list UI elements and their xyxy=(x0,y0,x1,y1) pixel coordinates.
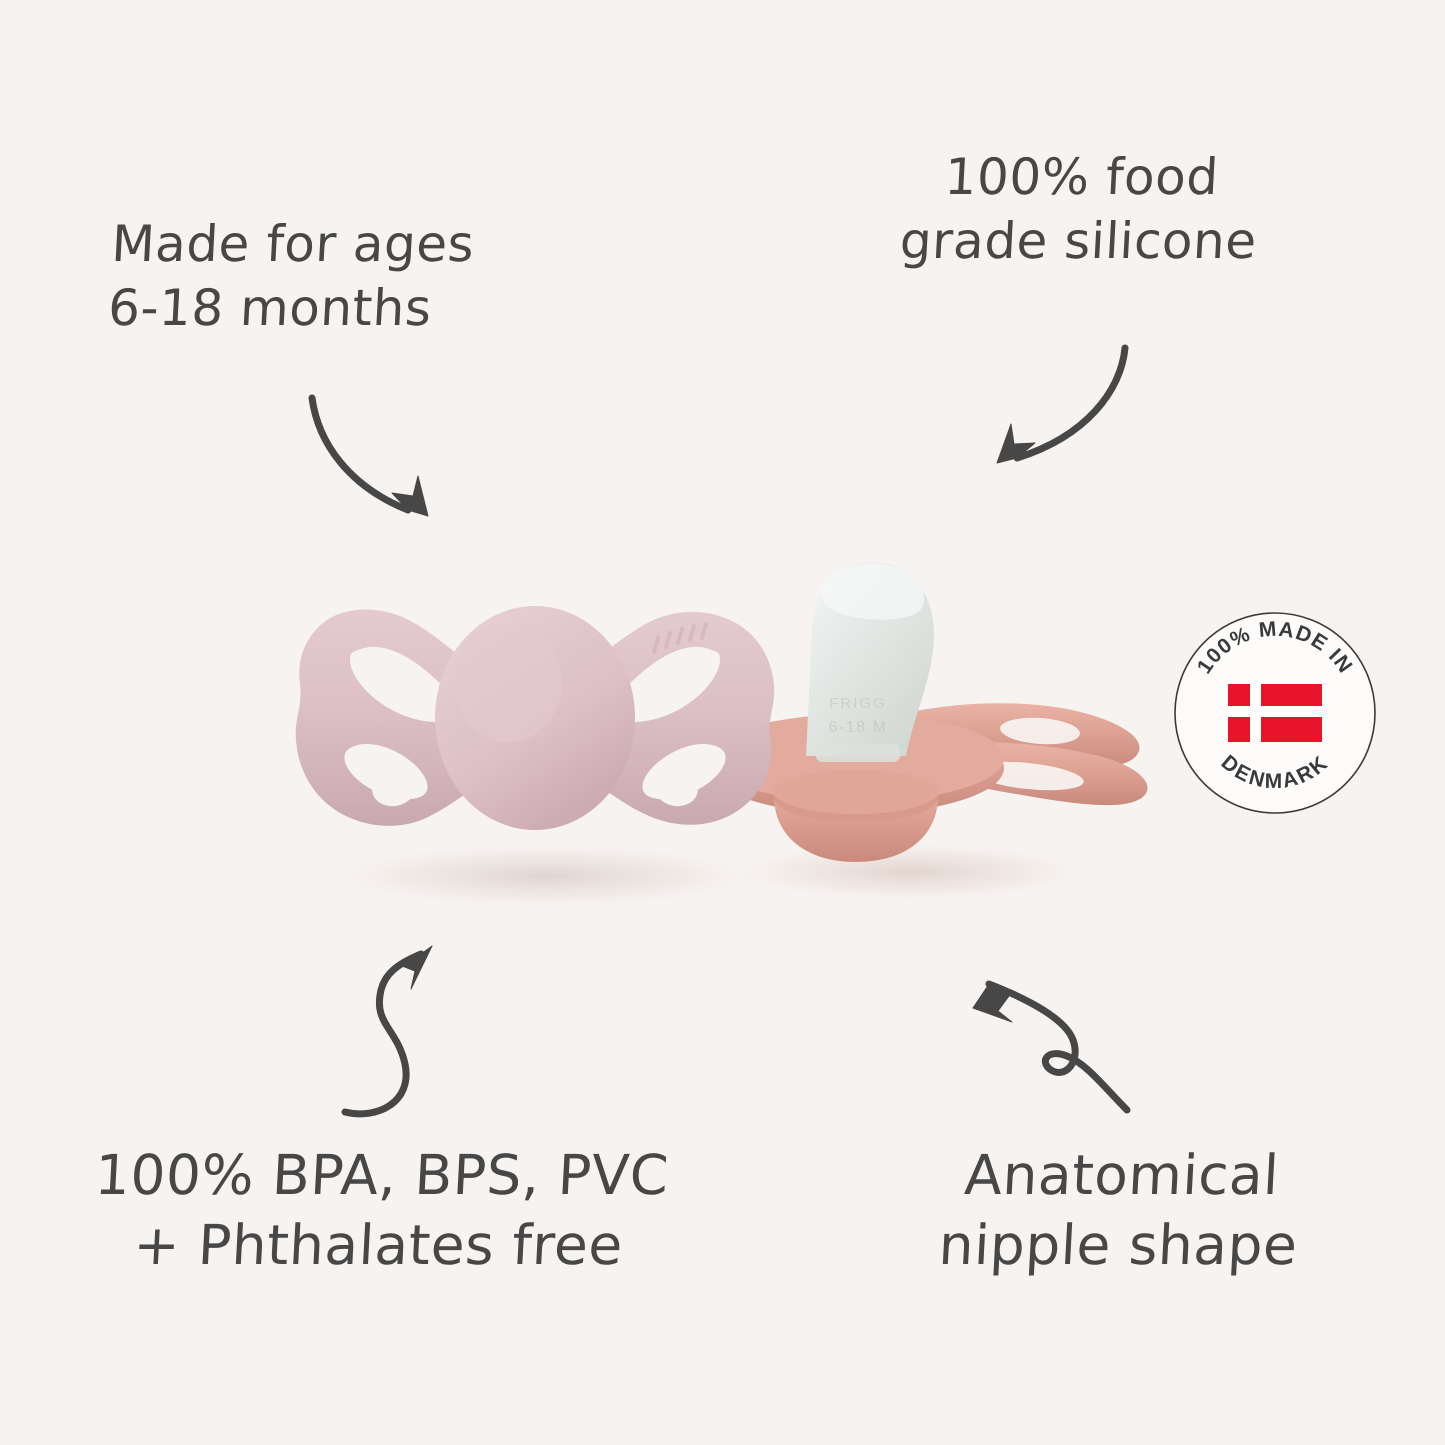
caption-made-for-ages: Made for ages 6-18 months xyxy=(107,212,634,340)
product-photo-pacifiers: FRIGG 6-18 M xyxy=(250,500,1200,930)
arrow-s-curve-up-right-icon xyxy=(335,940,495,1120)
infographic-canvas: Made for ages 6-18 months 100% food grad… xyxy=(0,0,1445,1445)
denmark-flag-icon xyxy=(1228,684,1322,742)
badge-svg: 100% MADE IN DENMARK xyxy=(1172,610,1378,816)
front-pacifier-shield xyxy=(296,606,775,830)
caption-bpa-free: 100% BPA, BPS, PVC + Phthalates free xyxy=(16,1140,743,1281)
caption-food-grade-silicone: 100% food grade silicone xyxy=(827,145,1334,273)
caption-anatomical-nipple-shape: Anatomical nipple shape xyxy=(876,1140,1363,1281)
butterfly-pacifier-front xyxy=(250,500,1200,930)
arrow-loop-up-left-icon xyxy=(955,960,1135,1120)
made-in-denmark-badge: 100% MADE IN DENMARK xyxy=(1172,610,1378,816)
arrow-curve-down-left-icon xyxy=(965,330,1140,485)
